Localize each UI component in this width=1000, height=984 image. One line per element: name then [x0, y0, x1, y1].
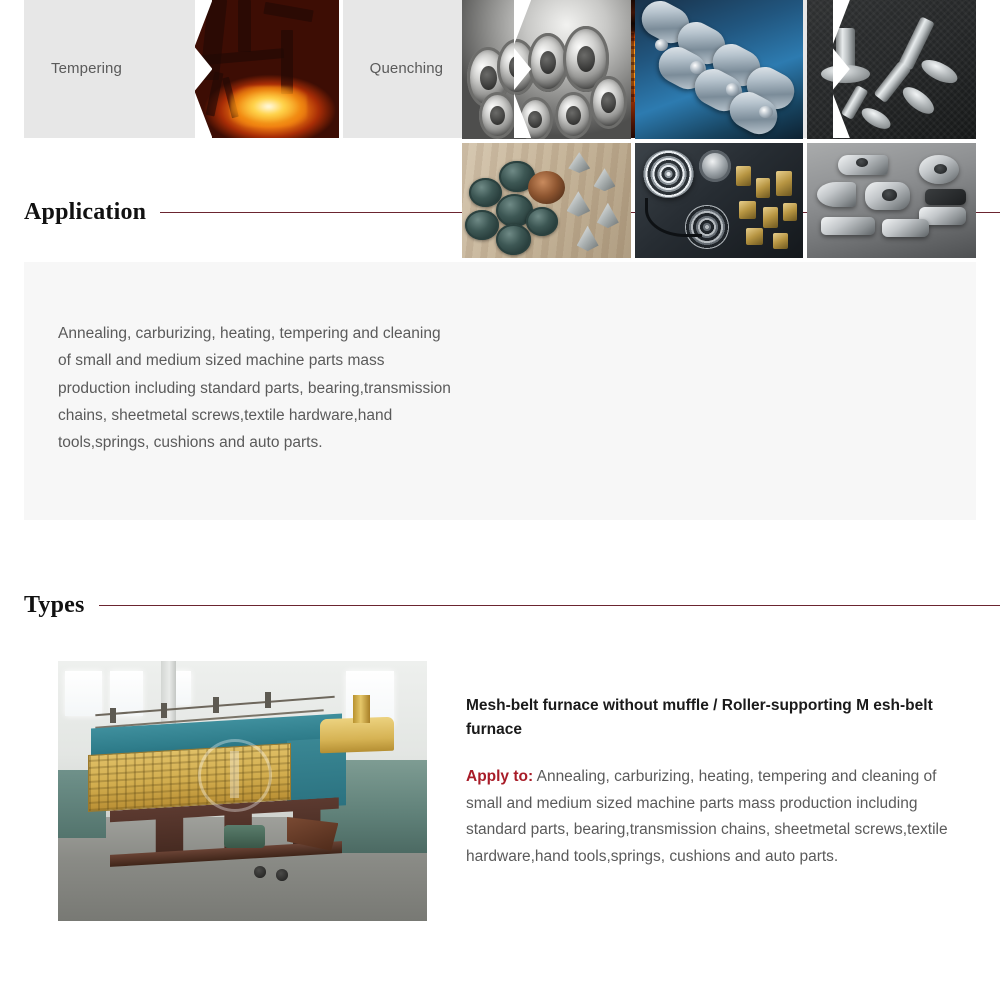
buttons-and-rivets-thumbnail[interactable]	[462, 143, 631, 258]
apply-to-text: Annealing, carburizing, heating, temperi…	[466, 768, 948, 865]
application-body-text: Annealing, carburizing, heating, temperi…	[24, 262, 462, 520]
process-step-tempering[interactable]: Tempering	[24, 0, 339, 138]
molten-steel-ladle-photo	[195, 0, 338, 138]
application-card: Annealing, carburizing, heating, temperi…	[24, 262, 976, 520]
photo-watermark	[198, 739, 272, 812]
machined-auto-parts-thumbnail[interactable]	[807, 143, 976, 258]
mesh-belt-furnace-photo	[58, 661, 427, 921]
springs-and-brass-parts-thumbnail[interactable]	[635, 143, 804, 258]
process-step-label: Tempering	[24, 0, 195, 138]
apply-to-label: Apply to:	[466, 768, 533, 785]
mesh-belt-furnace-photo-wrapper[interactable]	[58, 661, 427, 921]
ball-bearings-thumbnail[interactable]	[462, 0, 631, 139]
section-title: Application	[24, 199, 146, 226]
type-item-apply-paragraph: Apply to: Annealing, carburizing, heatin…	[466, 764, 976, 871]
section-title: Types	[24, 592, 85, 619]
roller-transmission-chain-thumbnail[interactable]	[635, 0, 804, 139]
type-item-title: Mesh-belt furnace without muffle / Rolle…	[466, 694, 976, 742]
type-item-row: Mesh-belt furnace without muffle / Rolle…	[58, 661, 976, 921]
heading-rule	[99, 605, 1000, 606]
application-gallery	[462, 0, 976, 258]
types-section-heading: Types	[24, 592, 1000, 619]
type-item-info: Mesh-belt furnace without muffle / Rolle…	[466, 661, 976, 921]
